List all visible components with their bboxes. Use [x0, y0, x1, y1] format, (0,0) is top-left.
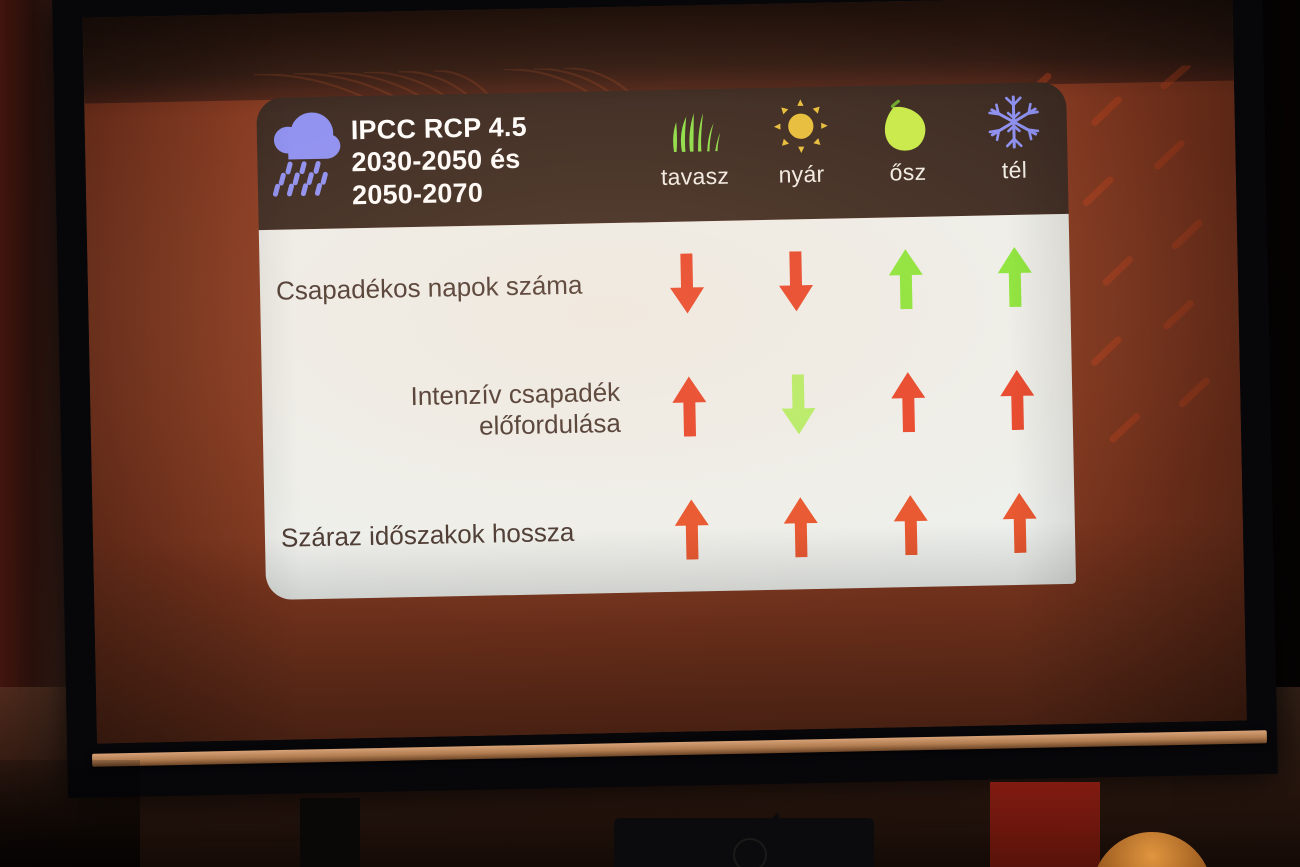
podium-knob [733, 838, 767, 867]
podium-wedge [762, 812, 782, 830]
photo-of-projected-slide: IPCC RCP 4.5 2030-2050 és 2050-2070 [0, 0, 1300, 867]
arrow-up-icon [672, 376, 707, 437]
table-row: Száraz időszakok hossza [264, 460, 1076, 600]
snowflake-icon [985, 92, 1042, 151]
cell-row0-tel [960, 245, 1071, 307]
projection-screen-frame: IPCC RCP 4.5 2030-2050 és 2050-2070 [52, 0, 1278, 798]
content-card: IPCC RCP 4.5 2030-2050 és 2050-2070 [256, 82, 1076, 600]
season-column-tavasz: tavasz [640, 98, 748, 191]
season-header-row: tavasz [640, 82, 1068, 192]
foreground-shadow [0, 760, 140, 867]
cell-row0-tavasz [631, 252, 742, 314]
arrow-up-icon [998, 246, 1033, 307]
row-label-dry-periods: Száraz időszakok hossza [265, 516, 638, 554]
arrow-up-icon [674, 499, 709, 560]
season-label-tavasz: tavasz [661, 163, 730, 191]
arrow-up-icon [784, 497, 819, 558]
rain-cloud-icon [268, 108, 344, 197]
row-arrows [634, 369, 1073, 438]
grass-icon [665, 99, 724, 158]
arrow-down-icon [779, 251, 814, 312]
foreground-dark-post [300, 798, 360, 867]
arrow-up-icon [1002, 493, 1037, 554]
table-row: Csapadékos napok száma [259, 214, 1071, 354]
arrow-up-icon [893, 495, 928, 556]
arrow-up-icon [891, 372, 926, 433]
table-row: Intenzív csapadék előfordulása [261, 337, 1073, 477]
arrow-up-icon [1000, 370, 1035, 431]
leaf-icon [879, 95, 934, 154]
arrow-down-icon [669, 253, 704, 314]
card-header-left: IPCC RCP 4.5 2030-2050 és 2050-2070 [256, 90, 642, 213]
cell-row1-tel [962, 369, 1073, 431]
arrow-up-icon [888, 248, 923, 309]
row-label-precipitation-days: Csapadékos napok száma [260, 269, 633, 307]
season-label-osz: ősz [889, 159, 926, 187]
arrow-down-icon [781, 374, 816, 435]
season-label-nyar: nyár [778, 161, 824, 189]
cell-row1-nyar [743, 373, 854, 435]
slide-title: IPCC RCP 4.5 2030-2050 és 2050-2070 [350, 105, 528, 212]
cell-row0-nyar [741, 250, 852, 312]
season-label-tel: tél [1002, 157, 1028, 185]
cell-row2-osz [855, 494, 966, 556]
cell-row2-tavasz [636, 499, 747, 561]
card-header: IPCC RCP 4.5 2030-2050 és 2050-2070 [256, 82, 1068, 230]
projection-screen-surface: IPCC RCP 4.5 2030-2050 és 2050-2070 [82, 0, 1246, 743]
row-arrows [631, 245, 1070, 314]
row-arrows [636, 492, 1075, 561]
cell-row1-tavasz [634, 375, 745, 437]
season-column-osz: ősz [853, 94, 961, 187]
cell-row1-osz [853, 371, 964, 433]
row-label-intense-precipitation: Intenzív csapadék előfordulása [262, 377, 635, 446]
foreground-red-object [990, 782, 1100, 867]
season-column-tel: tél [960, 92, 1068, 185]
cell-row2-tel [965, 492, 1076, 554]
season-column-nyar: nyár [747, 96, 855, 189]
presentation-slide: IPCC RCP 4.5 2030-2050 és 2050-2070 [82, 0, 1246, 743]
cell-row0-osz [850, 248, 961, 310]
cell-row2-nyar [746, 496, 857, 558]
sun-icon [771, 97, 830, 156]
card-body: Csapadékos napok száma [259, 214, 1076, 600]
